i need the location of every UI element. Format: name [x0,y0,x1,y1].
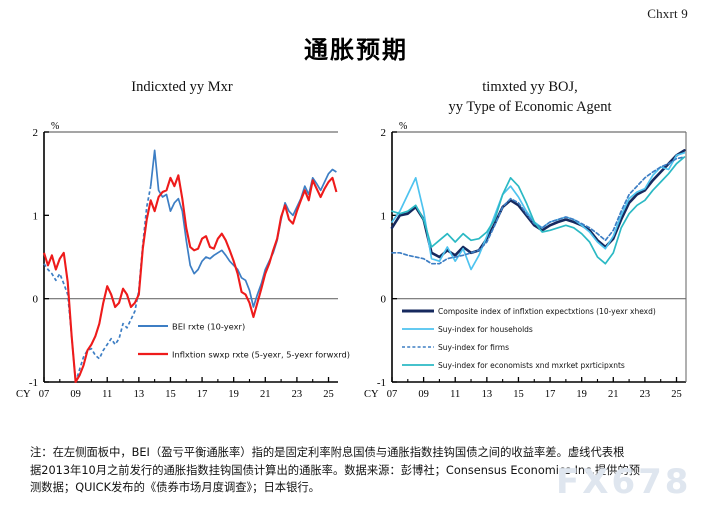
x-tick-label: 17 [197,389,208,400]
left-legend-label-bei: BEI rxte (10-yexr) [172,322,245,332]
series-line [44,186,151,382]
right-axis-group: 2 1 0 -1 % [377,121,686,389]
right-ylabel-0: 0 [381,294,387,306]
left-chart-svg: 2 1 0 -1 % 07091113151719212325 BEI rxte… [8,120,356,420]
page-title: 通胀预期 [0,30,712,65]
series-line [392,157,684,264]
x-tick-label: 07 [387,389,398,400]
right-ylabel-2: 2 [381,127,387,139]
series-line [392,153,684,270]
right-ylabel-1: 1 [381,210,387,222]
x-tick-label: 13 [134,389,145,400]
right-chart-panel: timxted yy BOJ, yy Type of Economic Agen… [356,78,704,420]
x-tick-label: 11 [102,389,112,400]
x-tick-label: 09 [418,389,429,400]
x-tick-label: 09 [70,389,81,400]
right-xaxis-cy-label: CY [364,389,379,400]
left-xaxis-cy-label: CY [16,389,31,400]
x-tick-label: 07 [39,389,50,400]
left-ylabel-1: 1 [33,210,39,222]
x-tick-label: 19 [576,389,587,400]
right-xticks-group: 07091113151719212325 [387,377,682,400]
x-tick-label: 11 [450,389,460,400]
chart-number: Chxrt 9 [647,6,688,22]
left-ylabel-neg1: -1 [29,377,38,389]
left-chart-panel: Indicxted yy Mxr 2 1 0 -1 % 070911131517… [8,78,356,420]
series-line [392,157,684,264]
x-tick-label: 21 [608,389,619,400]
right-legend-label-firms: Suy-index for firms [438,343,509,352]
right-percent-label: % [399,121,407,132]
right-legend-label-economists: Suy-index for economists xnd mxrket pxrt… [438,361,625,370]
right-series-group [392,150,684,269]
x-tick-label: 17 [545,389,556,400]
x-tick-label: 21 [260,389,271,400]
left-legend: BEI rxte (10-yexr) Inflxtion swxp rxte (… [138,322,350,360]
left-ylabel-0: 0 [33,294,39,306]
right-chart-title-line2: yy Type of Economic Agent [448,99,611,115]
footnote-line-3: 测数据；QUICK发布的《债券市场月度调查》；日本银行。 [30,479,690,497]
right-legend-label-composite: Composite index of inflxtion expectxtion… [438,307,656,316]
right-legend-label-households: Suy-index for households [438,325,533,334]
left-legend-label-swap: Inflxtion swxp rxte (5-yexr, 5-yexr forw… [172,350,350,360]
x-tick-label: 19 [228,389,239,400]
left-series-group [44,150,336,382]
right-plot-area: 2 1 0 -1 % 07091113151719212325 Composit… [356,120,704,420]
right-ylabel-neg1: -1 [377,377,386,389]
x-tick-label: 23 [292,389,303,400]
right-chart-title: timxted yy BOJ, yy Type of Economic Agen… [356,78,704,120]
footnote-line-2: 据2013年10月之前发行的通胀指数挂钩国债计算出的通胀率。数据来源：彭博社；C… [30,462,690,480]
left-xticks-group: 07091113151719212325 [39,377,334,400]
right-legend: Composite index of inflxtion expectxtion… [402,307,656,370]
x-tick-label: 13 [482,389,493,400]
footnote-line-1: 注：在左侧面板中，BEI（盈亏平衡通胀率）指的是固定利率附息国债与通胀指数挂钩国… [30,444,690,462]
right-chart-title-line1: timxted yy BOJ, [482,79,577,95]
series-line [151,150,337,307]
x-tick-label: 23 [640,389,651,400]
x-tick-label: 15 [513,389,524,400]
right-chart-svg: 2 1 0 -1 % 07091113151719212325 Composit… [356,120,704,420]
x-tick-label: 25 [323,389,334,400]
left-plot-area: 2 1 0 -1 % 07091113151719212325 BEI rxte… [8,120,356,420]
left-percent-label: % [51,121,59,132]
left-chart-title: Indicxted yy Mxr [8,78,356,120]
x-tick-label: 25 [671,389,682,400]
left-ylabel-2: 2 [33,127,39,139]
footnote: 注：在左侧面板中，BEI（盈亏平衡通胀率）指的是固定利率附息国债与通胀指数挂钩国… [30,444,690,497]
x-tick-label: 15 [165,389,176,400]
